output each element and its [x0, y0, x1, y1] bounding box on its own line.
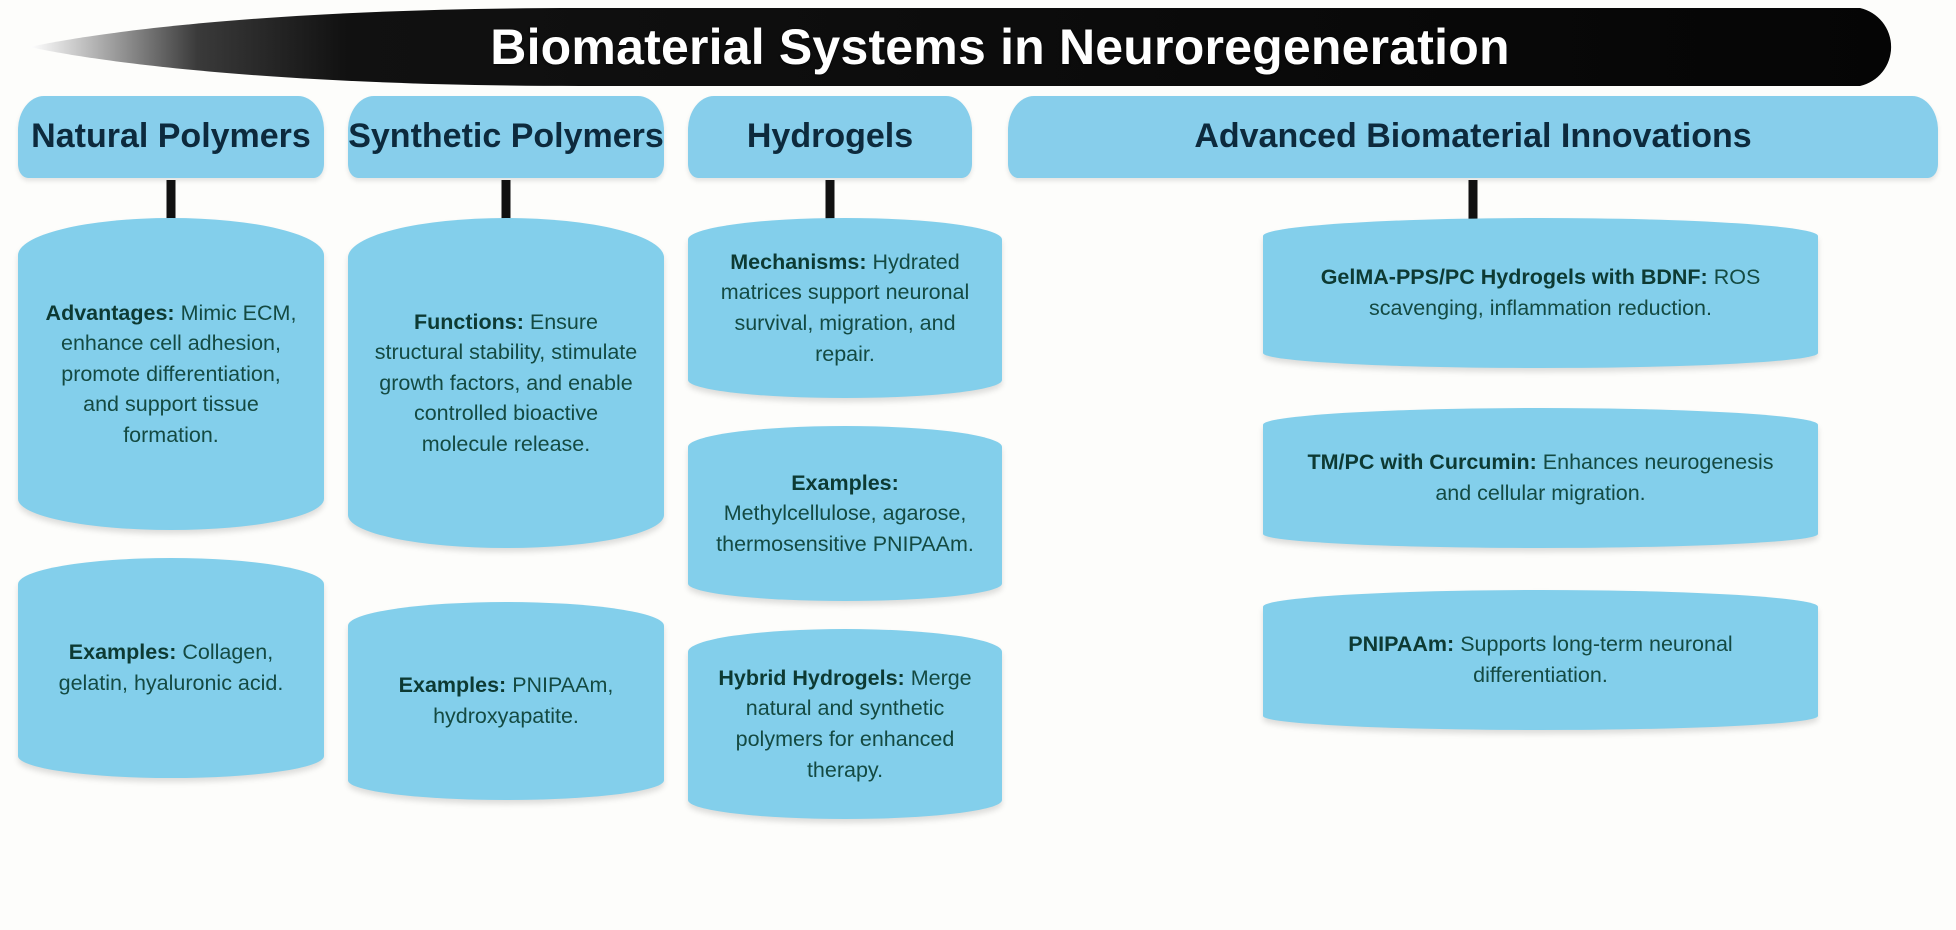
connector-line [1469, 180, 1478, 222]
info-label: PNIPAAm: [1348, 632, 1454, 656]
info-cylinder-content: TM/PC with Curcumin: Enhances neurogenes… [1263, 435, 1818, 520]
info-cylinder[interactable]: GelMA-PPS/PC Hydrogels with BDNF: ROS sc… [1263, 218, 1818, 368]
title-banner: Biomaterial Systems in Neuroregeneration [20, 6, 1940, 88]
info-label: Examples: [791, 471, 899, 495]
column-natural-polymers: Natural Polymers Advantages: Mimic ECM, … [18, 96, 324, 178]
info-cylinder[interactable]: TM/PC with Curcumin: Enhances neurogenes… [1263, 408, 1818, 548]
info-cylinder[interactable]: Advantages: Mimic ECM, enhance cell adhe… [18, 218, 324, 530]
column-synthetic-polymers: Synthetic Polymers Functions: Ensure str… [348, 96, 664, 178]
info-cylinder-content: Examples: Collagen, gelatin, hyaluronic … [18, 625, 324, 710]
info-label: GelMA-PPS/PC Hydrogels with BDNF: [1321, 265, 1708, 289]
info-cylinder[interactable]: Hybrid Hydrogels: Merge natural and synt… [688, 629, 1002, 819]
connector-line [167, 180, 176, 222]
info-cylinder[interactable]: Functions: Ensure structural stability, … [348, 218, 664, 548]
info-label: Hybrid Hydrogels: [718, 666, 904, 690]
info-cylinder[interactable]: Mechanisms: Hydrated matrices support ne… [688, 218, 1002, 398]
column-hydrogels: Hydrogels Mechanisms: Hydrated matrices … [688, 96, 972, 178]
column-header-hydrogels[interactable]: Hydrogels [688, 96, 972, 178]
infographic-root: Biomaterial Systems in Neuroregeneration… [0, 0, 1956, 930]
info-label: Mechanisms: [730, 250, 866, 274]
info-cylinder-content: Functions: Ensure structural stability, … [348, 295, 664, 472]
info-text: Methylcellulose, agarose, thermosensitiv… [716, 501, 974, 556]
columns-container: Natural Polymers Advantages: Mimic ECM, … [0, 96, 1956, 930]
info-label: Examples: [399, 673, 507, 697]
info-cylinder-content: Mechanisms: Hydrated matrices support ne… [688, 235, 1002, 381]
column-header-advanced-innovations[interactable]: Advanced Biomaterial Innovations [1008, 96, 1938, 178]
column-header-synthetic-polymers[interactable]: Synthetic Polymers [348, 96, 664, 178]
info-cylinder[interactable]: Examples: PNIPAAm, hydroxyapatite. [348, 602, 664, 800]
column-advanced-innovations: Advanced Biomaterial Innovations GelMA-P… [1008, 96, 1938, 178]
info-label: Functions: [414, 310, 524, 334]
column-header-label: Natural Polymers [21, 119, 321, 155]
info-text: Supports long-term neuronal differentiat… [1460, 632, 1733, 687]
info-label: TM/PC with Curcumin: [1307, 450, 1536, 474]
connector-line [502, 180, 511, 222]
column-header-label: Hydrogels [737, 119, 923, 155]
cylinder-stack: Advantages: Mimic ECM, enhance cell adhe… [18, 218, 324, 806]
info-cylinder-content: GelMA-PPS/PC Hydrogels with BDNF: ROS sc… [1263, 250, 1818, 335]
info-cylinder[interactable]: Examples: Methylcellulose, agarose, ther… [688, 426, 1002, 601]
cylinder-stack: Functions: Ensure structural stability, … [348, 218, 664, 828]
page-title: Biomaterial Systems in Neuroregeneration [20, 6, 1940, 88]
info-cylinder-content: Examples: PNIPAAm, hydroxyapatite. [348, 658, 664, 743]
column-header-natural-polymers[interactable]: Natural Polymers [18, 96, 324, 178]
cylinder-stack: Mechanisms: Hydrated matrices support ne… [688, 218, 1002, 847]
info-cylinder-content: PNIPAAm: Supports long-term neuronal dif… [1263, 617, 1818, 702]
column-header-label: Synthetic Polymers [338, 119, 674, 155]
info-cylinder[interactable]: PNIPAAm: Supports long-term neuronal dif… [1263, 590, 1818, 730]
info-cylinder-content: Hybrid Hydrogels: Merge natural and synt… [688, 651, 1002, 797]
info-cylinder[interactable]: Examples: Collagen, gelatin, hyaluronic … [18, 558, 324, 778]
info-cylinder-content: Examples: Methylcellulose, agarose, ther… [688, 456, 1002, 572]
info-label: Examples: [69, 640, 177, 664]
info-cylinder-content: Advantages: Mimic ECM, enhance cell adhe… [18, 286, 324, 463]
info-label: Advantages: [46, 301, 175, 325]
column-header-label: Advanced Biomaterial Innovations [1184, 119, 1761, 155]
connector-line [826, 180, 835, 222]
cylinder-stack: GelMA-PPS/PC Hydrogels with BDNF: ROS sc… [1263, 218, 1818, 758]
